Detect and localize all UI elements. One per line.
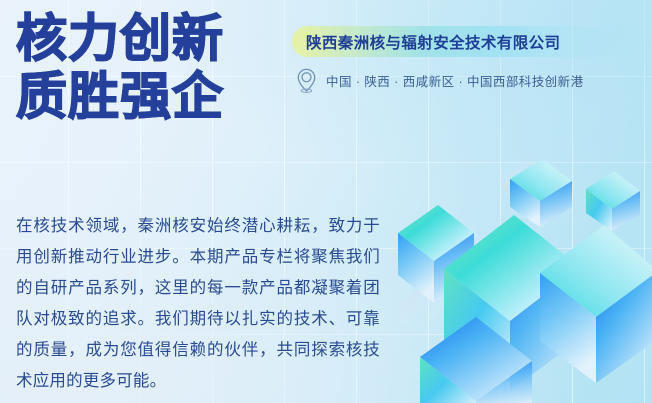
location-text: 中国 · 陕西 · 西咸新区 · 中国西部科技创新港: [326, 71, 584, 90]
intro-paragraph: 在核技术领域，秦洲核安始终潜心耕耘，致力于用创新推动行业进步。本期产品专栏将聚焦…: [16, 211, 380, 397]
headline-line-1: 核力创新: [16, 10, 316, 68]
location-row: 中国 · 陕西 · 西咸新区 · 中国西部科技创新港: [292, 68, 644, 93]
isometric-cubes-graphic: [390, 161, 652, 403]
company-name: 陕西秦洲核与辐射安全技术有限公司: [306, 31, 560, 53]
headline: 核力创新 质胜强企: [16, 10, 316, 126]
headline-line-2: 质胜强企: [16, 68, 316, 126]
company-info: 陕西秦洲核与辐射安全技术有限公司 中国 · 陕西 · 西咸新区 · 中国西部科技…: [292, 26, 644, 93]
company-name-highlight: 陕西秦洲核与辐射安全技术有限公司: [292, 26, 644, 57]
promo-banner: 核力创新 质胜强企 陕西秦洲核与辐射安全技术有限公司 中国 · 陕西 · 西咸新…: [0, 0, 652, 403]
map-pin-icon: [296, 68, 317, 93]
